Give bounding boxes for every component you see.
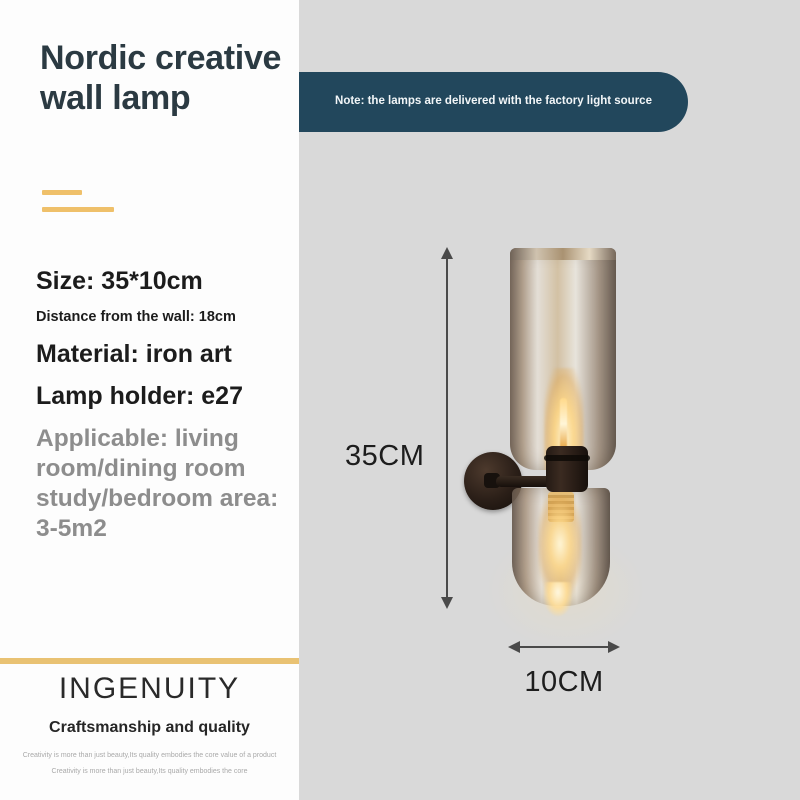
lamp-joint-ring (544, 455, 590, 461)
product-title: Nordic creative wall lamp (40, 38, 290, 118)
gold-accent-bar-long (42, 207, 114, 212)
brand-footer: INGENUITY Craftsmanship and quality Crea… (0, 664, 299, 800)
upper-bulb-filament (560, 398, 567, 450)
note-banner: Note: the lamps are delivered with the f… (299, 72, 688, 132)
width-dimension-label: 10CM (448, 666, 680, 699)
spec-applicable: Applicable: living room/dining room stud… (36, 424, 301, 544)
height-dimension-label: 35CM (345, 440, 424, 473)
spec-size: Size: 35*10cm (36, 268, 301, 296)
note-banner-text: Note: the lamps are delivered with the f… (329, 94, 659, 110)
spec-material: Material: iron art (36, 341, 301, 369)
spec-list: Size: 35*10cm Distance from the wall: 18… (36, 268, 301, 544)
upper-shade-rim (510, 248, 616, 260)
spec-lamp-holder: Lamp holder: e27 (36, 383, 301, 411)
product-infographic: Nordic creative wall lamp Size: 35*10cm … (0, 0, 800, 800)
lower-bulb-glow (538, 496, 582, 596)
fineprint-line-2: Creativity is more than just beauty,Its … (0, 768, 299, 776)
gold-accent-bar-short (42, 190, 82, 195)
lower-bulb-tip (544, 582, 572, 616)
brand-tagline: Craftsmanship and quality (0, 719, 299, 737)
brand-name: INGENUITY (0, 672, 299, 706)
wall-lamp-product-image (440, 230, 660, 650)
left-info-panel: Nordic creative wall lamp Size: 35*10cm … (0, 0, 299, 661)
fineprint-line-1: Creativity is more than just beauty,Its … (0, 752, 299, 760)
spec-distance: Distance from the wall: 18cm (36, 310, 301, 326)
lamp-joint-collar (546, 446, 588, 492)
upper-glass-shade (510, 248, 616, 470)
